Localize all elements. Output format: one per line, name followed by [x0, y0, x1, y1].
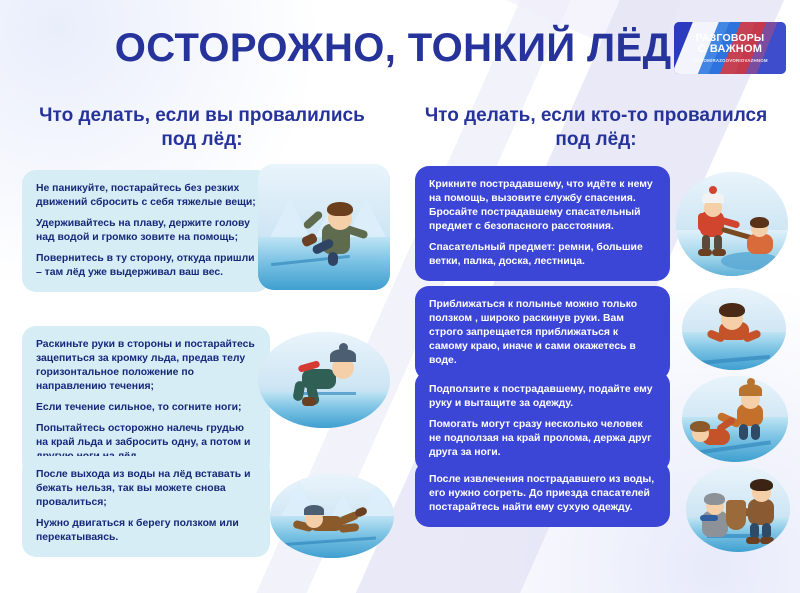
right-advice-card-2: Приближаться к полынье можно только полз… [415, 286, 670, 380]
victim-hair [750, 217, 769, 228]
card-paragraph: Если течение сильное, то согните ноги; [36, 401, 256, 415]
card-paragraph: После извлечения пострадавшего из воды, … [429, 473, 656, 515]
rescuer-boot-left [746, 537, 760, 544]
child-leg-right [328, 252, 338, 266]
rescuer-scarf [698, 213, 707, 231]
child-hair [327, 202, 353, 216]
victim-hood [704, 493, 725, 505]
logo-text-block: РАЗГОВОРЫ О ВАЖНОМ VK.COM/RAZGOVORIOVAZH… [674, 22, 786, 74]
child-figure [295, 506, 365, 544]
child-figure [703, 306, 765, 350]
card-paragraph: Крикните пострадавшему, что идёте к нему… [429, 178, 656, 234]
card-paragraph: После выхода из воды на лёд вставать и б… [36, 468, 256, 510]
illustration-rescuer-handing-stick-to-victim [676, 172, 788, 276]
illustration-boy-crawling-on-ice [270, 474, 394, 558]
rescuer-boot-right [760, 537, 774, 544]
victim-hair [690, 421, 710, 432]
rescuer-boot-right [712, 249, 726, 256]
right-advice-card-1: Крикните пострадавшему, что идёте к нему… [415, 166, 670, 281]
rescuer-figure [740, 481, 784, 543]
card-paragraph: Помогать могут сразу несколько человек н… [429, 418, 656, 460]
child-leg-right [338, 523, 359, 533]
rescuer-body [748, 499, 774, 525]
card-paragraph: Подползите к пострадавшему, подайте ему … [429, 383, 656, 411]
rescuer-leg-left [739, 424, 748, 440]
right-column-heading: Что делать, если кто-то провалился под л… [416, 104, 776, 153]
illustration-boy-climbing-onto-ice-edge [258, 332, 390, 428]
logo-line-2: О ВАЖНОМ [698, 44, 762, 55]
child-hair [719, 303, 745, 317]
child-figure [292, 349, 358, 407]
victim-figure [743, 220, 779, 258]
illustration-boy-crawling-toward-hole [682, 288, 786, 370]
child-boot-left [302, 397, 316, 406]
logo-line-1: РАЗГОВОРЫ [696, 33, 765, 44]
dry-coat [726, 500, 746, 530]
left-column-heading: Что делать, если вы провалились под лёд: [28, 104, 376, 153]
right-advice-card-3: Подползите к пострадавшему, подайте ему … [415, 371, 670, 472]
card-paragraph: Спасательный предмет: ремни, большие вет… [429, 241, 656, 269]
poster-canvas: ОСТОРОЖНО, ТОНКИЙ ЛЁД! РАЗГОВОРЫ О ВАЖНО… [0, 0, 800, 593]
card-paragraph: Повернитесь в ту сторону, откуда пришли … [36, 252, 256, 280]
rescuer-hat-pompom [747, 378, 755, 386]
illustration-rescuer-pulling-victim-by-hand [682, 376, 788, 462]
card-paragraph: Нужно двигаться к берегу ползком или пер… [36, 517, 256, 545]
child-hat [304, 505, 324, 515]
razgovory-o-vazhnom-logo[interactable]: РАЗГОВОРЫ О ВАЖНОМ VK.COM/RAZGOVORIOVAZH… [674, 22, 786, 74]
card-paragraph: Приближаться к полынье можно только полз… [429, 298, 656, 368]
rescuer-figure [692, 193, 736, 255]
rescuer-hair [750, 479, 773, 491]
left-advice-card-1: Не паникуйте, постарайтесь без резких дв… [22, 170, 270, 292]
right-advice-card-4: После извлечения пострадавшего из воды, … [415, 461, 670, 527]
card-paragraph: Удерживайтесь на плаву, держите голову н… [36, 217, 256, 245]
illustration-rescuer-wrapping-victim-in-coat [686, 466, 790, 552]
logo-url: VK.COM/RAZGOVORIOVAZHNOM [692, 58, 767, 63]
victim-body [747, 234, 773, 254]
victim-figure [690, 419, 736, 451]
left-advice-card-3: После выхода из воды на лёд вставать и б… [22, 456, 270, 557]
rescuer-boot-left [698, 249, 712, 256]
illustration-boy-falling-through-ice [258, 164, 390, 290]
victim-scarf [700, 515, 718, 521]
card-paragraph: Не паникуйте, постарайтесь без резких дв… [36, 182, 256, 210]
rescuer-hat-pompom [709, 186, 717, 194]
child-figure [308, 202, 366, 264]
left-advice-card-2: Раскиньте руки в стороны и постарайтесь … [22, 326, 270, 476]
rescuer-leg-right [751, 424, 760, 440]
card-paragraph: Раскиньте руки в стороны и постарайтесь … [36, 338, 256, 394]
